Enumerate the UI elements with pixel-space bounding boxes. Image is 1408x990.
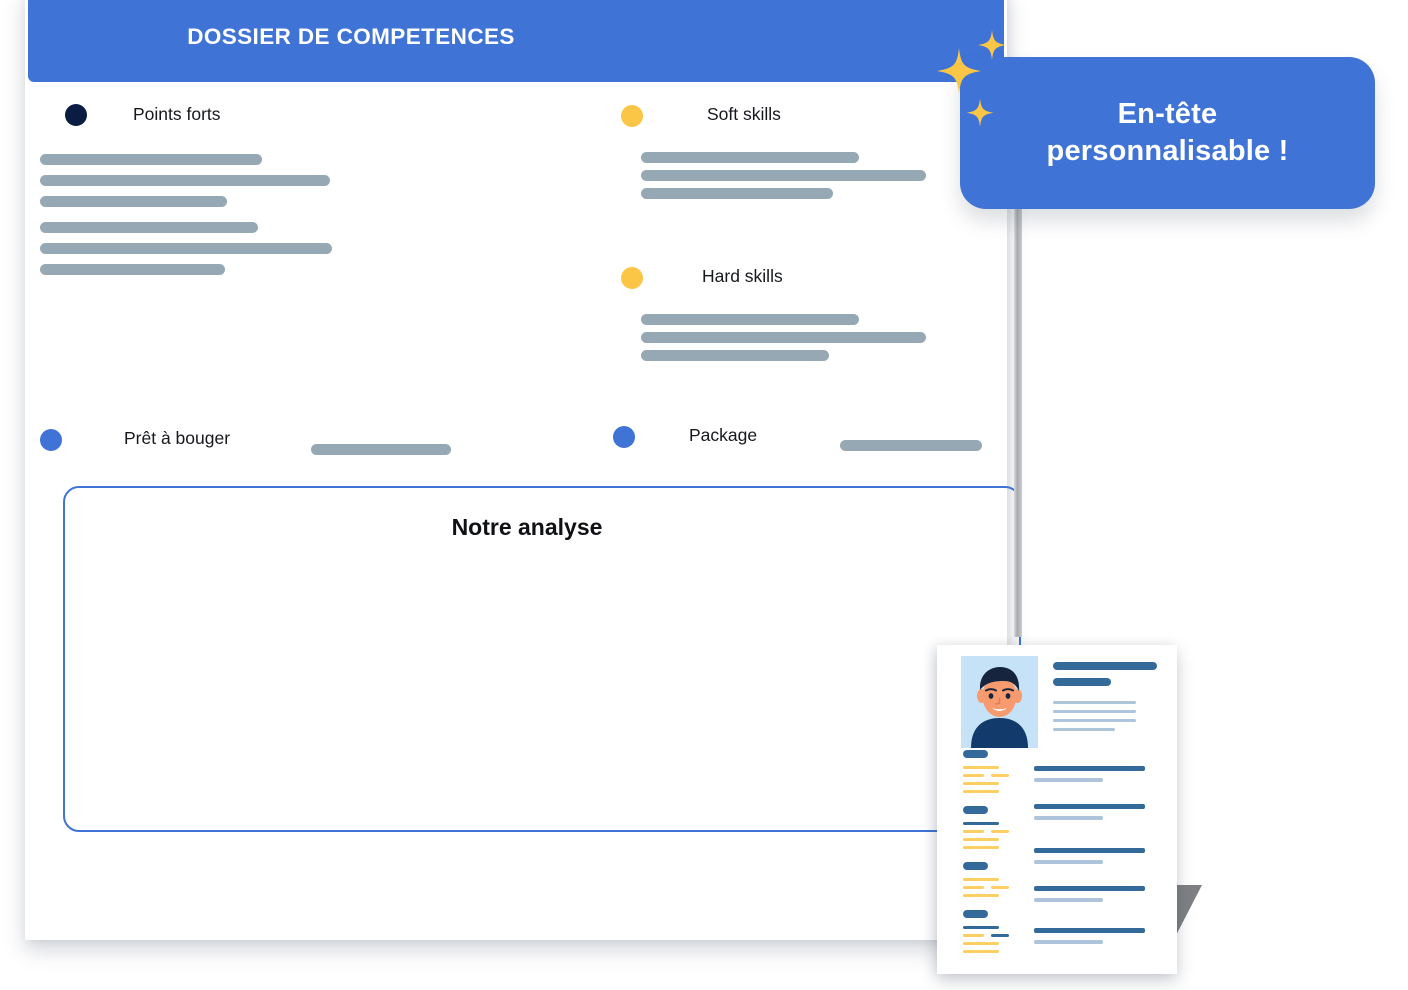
cv-right-line [1034,898,1103,902]
placeholder-bar [311,444,451,455]
cv-right-line [1034,778,1103,782]
cv-left-line [963,846,999,849]
cv-left-line [963,886,984,889]
placeholder-bar [40,196,227,207]
cv-right-line [1034,940,1103,944]
cv-left-line [963,782,999,785]
cv-left-line [963,830,984,833]
cv-right-heading [1034,766,1145,771]
cv-left-heading [963,862,988,870]
points-forts-dot [65,104,87,126]
cv-right-line [1034,860,1103,864]
cv-right-line [1034,816,1103,820]
cv-left-line [963,934,984,937]
placeholder-bar [641,170,926,181]
notre-analyse-box[interactable]: Notre analyse [63,486,1021,832]
placeholder-bar [641,188,833,199]
pret-a-bouger-dot [40,429,62,451]
customizable-header-badge[interactable]: En-tête personnalisable ! [960,57,1375,209]
soft-skills-dot [621,105,643,127]
dossier-card: DOSSIER DE COMPETENCES Points forts Soft… [25,0,1007,940]
placeholder-bar [40,154,262,165]
cv-left-line [963,790,999,793]
cv-left-line [963,950,999,953]
placeholder-bar [40,243,332,254]
badge-label: En-tête personnalisable ! [1047,96,1289,170]
hard-skills-label: Hard skills [702,266,783,287]
placeholder-bar [641,332,926,343]
soft-skills-label: Soft skills [707,104,781,125]
cv-left-line [963,766,999,769]
cv-preview-card[interactable] [937,645,1177,974]
cv-left-line [963,822,999,825]
placeholder-bar [641,314,859,325]
placeholder-bar [641,350,829,361]
badge-line-2: personnalisable ! [1047,135,1289,167]
placeholder-bar [40,222,258,233]
cv-left-heading [963,806,988,814]
page-title: DOSSIER DE COMPETENCES [187,24,515,50]
cv-left-line [963,942,999,945]
cv-header-line [1053,728,1115,731]
dossier-header-bar: DOSSIER DE COMPETENCES [28,0,1004,82]
placeholder-bar [40,264,225,275]
badge-stem [1014,205,1022,637]
cv-left-heading [963,910,988,918]
cv-left-line [991,830,1009,833]
sparkles-icon [930,28,1010,128]
pret-a-bouger-label: Prêt à bouger [124,428,230,449]
cv-left-line [991,886,1009,889]
placeholder-bar [641,152,859,163]
cv-left-line [963,894,999,897]
cv-left-line [991,934,1009,937]
cv-right-heading [1034,886,1145,891]
placeholder-bar [40,175,330,186]
cv-header-line [1053,719,1136,722]
cv-right-heading [1034,848,1145,853]
hard-skills-dot [621,267,643,289]
cv-header-line [1053,701,1136,704]
cv-left-line [963,878,999,881]
notre-analyse-title: Notre analyse [50,514,1004,541]
badge-line-1: En-tête [1118,98,1218,130]
cv-left-line [991,774,1009,777]
cv-header-bar [1053,662,1157,670]
package-dot [613,426,635,448]
placeholder-bar [840,440,982,451]
cv-header-line [1053,710,1136,713]
cv-left-line [963,774,984,777]
cv-right-heading [1034,804,1145,809]
cv-left-line [963,838,999,841]
cv-left-line [963,926,999,929]
avatar [961,656,1038,748]
cv-header-bar [1053,678,1111,686]
cv-left-heading [963,750,988,758]
cv-right-heading [1034,928,1145,933]
points-forts-label: Points forts [133,104,221,125]
package-label: Package [689,425,757,446]
